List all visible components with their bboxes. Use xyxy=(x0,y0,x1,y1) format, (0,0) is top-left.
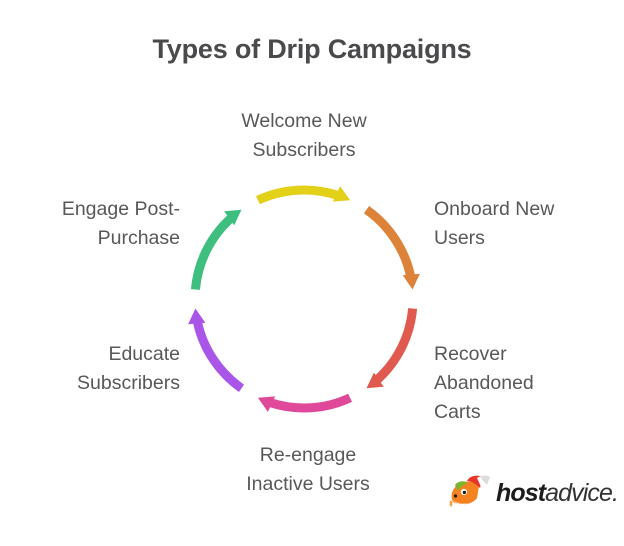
cycle-label-reengage: Re-engage Inactive Users xyxy=(188,441,428,499)
fox-mascot-icon xyxy=(447,472,491,514)
drip-campaign-infographic: Types of Drip Campaigns Welcome New Subs… xyxy=(0,0,624,546)
cycle-arrow-arcs xyxy=(188,186,420,412)
cycle-label-welcome: Welcome New Subscribers xyxy=(184,107,424,165)
cycle-arc-onboard xyxy=(367,210,411,276)
cycle-label-educate: Educate Subscribers xyxy=(10,340,180,398)
cycle-arc-welcome xyxy=(258,190,337,200)
cycle-arc-recover xyxy=(378,308,413,379)
cycle-arrowhead-onboard xyxy=(403,274,420,290)
brand-logo: hostadvice. xyxy=(447,470,618,516)
cycle-label-engage: Engage Post- Purchase xyxy=(10,195,180,253)
cycle-arc-educate xyxy=(198,323,242,389)
cycle-arc-reengage xyxy=(271,398,350,408)
cycle-arc-engage xyxy=(195,219,230,290)
cycle-arrowhead-educate xyxy=(188,308,205,324)
brand-word-host: host xyxy=(496,479,545,507)
brand-wordmark: hostadvice. xyxy=(496,481,618,506)
cycle-label-recover: Recover Abandoned Carts xyxy=(434,340,614,427)
cycle-label-onboard: Onboard New Users xyxy=(434,195,614,253)
brand-word-advice: advice. xyxy=(545,479,618,507)
